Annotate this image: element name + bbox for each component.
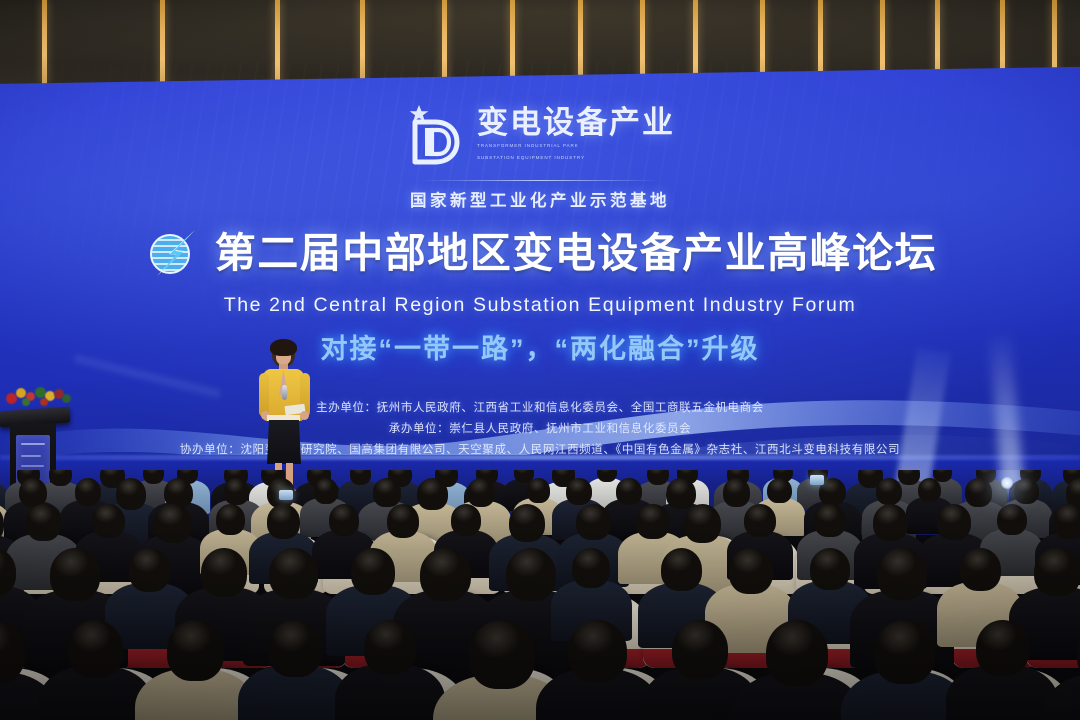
- host-microphone: [282, 385, 287, 400]
- conference-photo: 变电设备产业 TRANSFORMER INDUSTRIAL PARK SUBST…: [0, 0, 1080, 720]
- logo-divider: [422, 180, 658, 181]
- globe-lightning-icon: [143, 224, 201, 282]
- d-monogram-icon: [405, 102, 467, 166]
- host-hair: [270, 339, 297, 356]
- event-host: [255, 341, 313, 487]
- logo-row: 变电设备产业 TRANSFORMER INDUSTRIAL PARK SUBST…: [405, 102, 675, 166]
- logo-tagline: 国家新型工业化产业示范基地: [0, 187, 1080, 211]
- forum-title-block: 第二届中部地区变电设备产业高峰论坛 The 2nd Central Region…: [0, 224, 1080, 366]
- audience-area: [0, 470, 1080, 720]
- forum-title-cn: 第二届中部地区变电设备产业高峰论坛: [215, 233, 938, 274]
- host-skirt: [267, 420, 301, 464]
- sponsor-line-co-organizer: 协办单位：沈阳变压器研究院、国高集团有限公司、天空聚成、人民网江西频道、《中国有…: [0, 440, 1080, 461]
- sponsor-line-organizer: 承办单位：崇仁县人民政府、抚州市工业和信息化委员会: [0, 419, 1080, 440]
- sponsor-credit-lines: 主办单位：抚州市人民政府、江西省工业和信息化委员会、全国工商联五金机电商会 承办…: [0, 398, 1080, 461]
- sponsor-logo-block: 变电设备产业 TRANSFORMER INDUSTRIAL PARK SUBST…: [0, 102, 1080, 211]
- audience-shadow-overlay: [0, 470, 1080, 720]
- logo-company-en-1: TRANSFORMER INDUSTRIAL PARK: [477, 142, 675, 149]
- forum-title-en: The 2nd Central Region Substation Equipm…: [0, 294, 1080, 317]
- forum-subtitle: 对接“一带一路”，“两化融合”升级: [0, 327, 1080, 366]
- host-hand-right: [300, 411, 309, 420]
- logo-company-en-2: SUBSTATION EQUIPMENT INDUSTRY: [477, 154, 675, 161]
- sponsor-line-host: 主办单位：抚州市人民政府、江西省工业和信息化委员会、全国工商联五金机电商会: [0, 398, 1080, 419]
- title-row: 第二届中部地区变电设备产业高峰论坛: [143, 224, 938, 282]
- logo-company-cn: 变电设备产业: [477, 107, 675, 138]
